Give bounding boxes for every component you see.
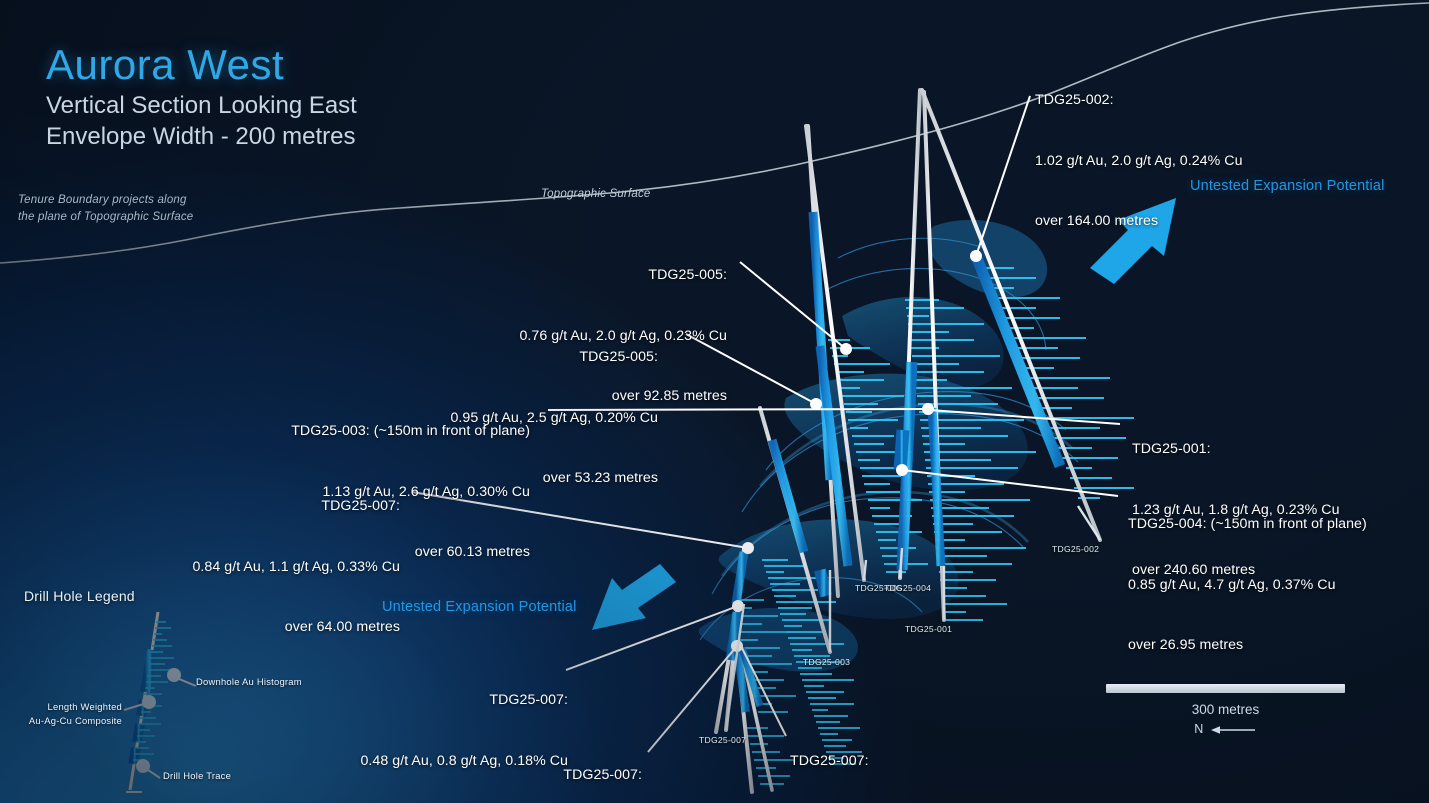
page-subtitle-2: Envelope Width - 200 metres	[46, 122, 357, 153]
callout-grades: 0.85 g/t Au, 4.7 g/t Ag, 0.37% Cu	[1128, 575, 1367, 595]
tenure-boundary-note: Tenure Boundary projects along the plane…	[18, 192, 193, 225]
callout-hole: TDG25-004: (~150m in front of plane)	[1128, 514, 1367, 534]
callout-tdg25-002: TDG25-002: 1.02 g/t Au, 2.0 g/t Ag, 0.24…	[1035, 50, 1243, 272]
north-label: N	[1194, 722, 1203, 736]
callout-interval: over 64.00 metres	[110, 617, 400, 637]
callout-hole: TDG25-005:	[370, 347, 658, 367]
legend-label-drill-hole-trace: Drill Hole Trace	[163, 769, 231, 783]
north-arrow-block: N	[1106, 722, 1345, 736]
vertical-section-figure: Aurora West Vertical Section Looking Eas…	[0, 0, 1429, 803]
callout-hole: TDG25-007:	[350, 765, 642, 785]
callout-hole: TDG25-002:	[1035, 90, 1243, 110]
page-title-block: Aurora West Vertical Section Looking Eas…	[46, 44, 357, 152]
callout-interval: over 164.00 metres	[1035, 211, 1243, 231]
scale-bar	[1106, 684, 1345, 693]
callout-hole: TDG25-007:	[790, 751, 998, 771]
page-title: Aurora West	[46, 44, 357, 87]
callout-hole: TDG25-001:	[1132, 439, 1340, 459]
callout-hole: TDG25-007:	[110, 496, 400, 516]
hole-end-label-tdg25-003: TDG25-003	[803, 657, 850, 667]
hole-end-label-tdg25-007: TDG25-007	[699, 735, 746, 745]
page-subtitle-1: Vertical Section Looking East	[46, 91, 357, 122]
hole-end-label-tdg25-002: TDG25-002	[1052, 544, 1099, 554]
hole-end-label-tdg25-001: TDG25-001	[905, 624, 952, 634]
callout-grades: 1.02 g/t Au, 2.0 g/t Ag, 0.24% Cu	[1035, 151, 1243, 171]
topographic-surface-label: Topographic Surface	[541, 188, 651, 200]
north-arrow-icon	[1209, 724, 1257, 736]
callout-interval: over 26.95 metres	[1128, 635, 1367, 655]
callout-hole: TDG25-003: (~150m in front of plane)	[230, 421, 530, 441]
callout-hole: TDG25-007:	[272, 690, 568, 710]
legend-title: Drill Hole Legend	[24, 588, 135, 604]
hole-end-label-tdg25-004: TDG25-004	[884, 583, 931, 593]
callout-tdg25-004: TDG25-004: (~150m in front of plane) 0.8…	[1128, 474, 1367, 696]
legend-label-downhole-histogram: Downhole Au Histogram	[196, 675, 302, 689]
callout-tdg25-007-a: TDG25-007: 0.84 g/t Au, 1.1 g/t Ag, 0.33…	[110, 456, 400, 678]
callout-hole: TDG25-005:	[431, 265, 727, 285]
callout-grades: 0.84 g/t Au, 1.1 g/t Ag, 0.33% Cu	[110, 557, 400, 577]
callout-tdg25-007-d: TDG25-007: 0.59 g/t Au, 1.8 g/t Ag, 0.25…	[790, 711, 998, 803]
scale-bar-label: 300 metres	[1106, 702, 1345, 717]
legend-label-composite: Length Weighted Au-Ag-Cu Composite	[0, 700, 122, 727]
callout-tdg25-007-c: TDG25-007: 0.87 g/t Au, 1.5 g/t Ag, 0.22…	[350, 725, 642, 803]
